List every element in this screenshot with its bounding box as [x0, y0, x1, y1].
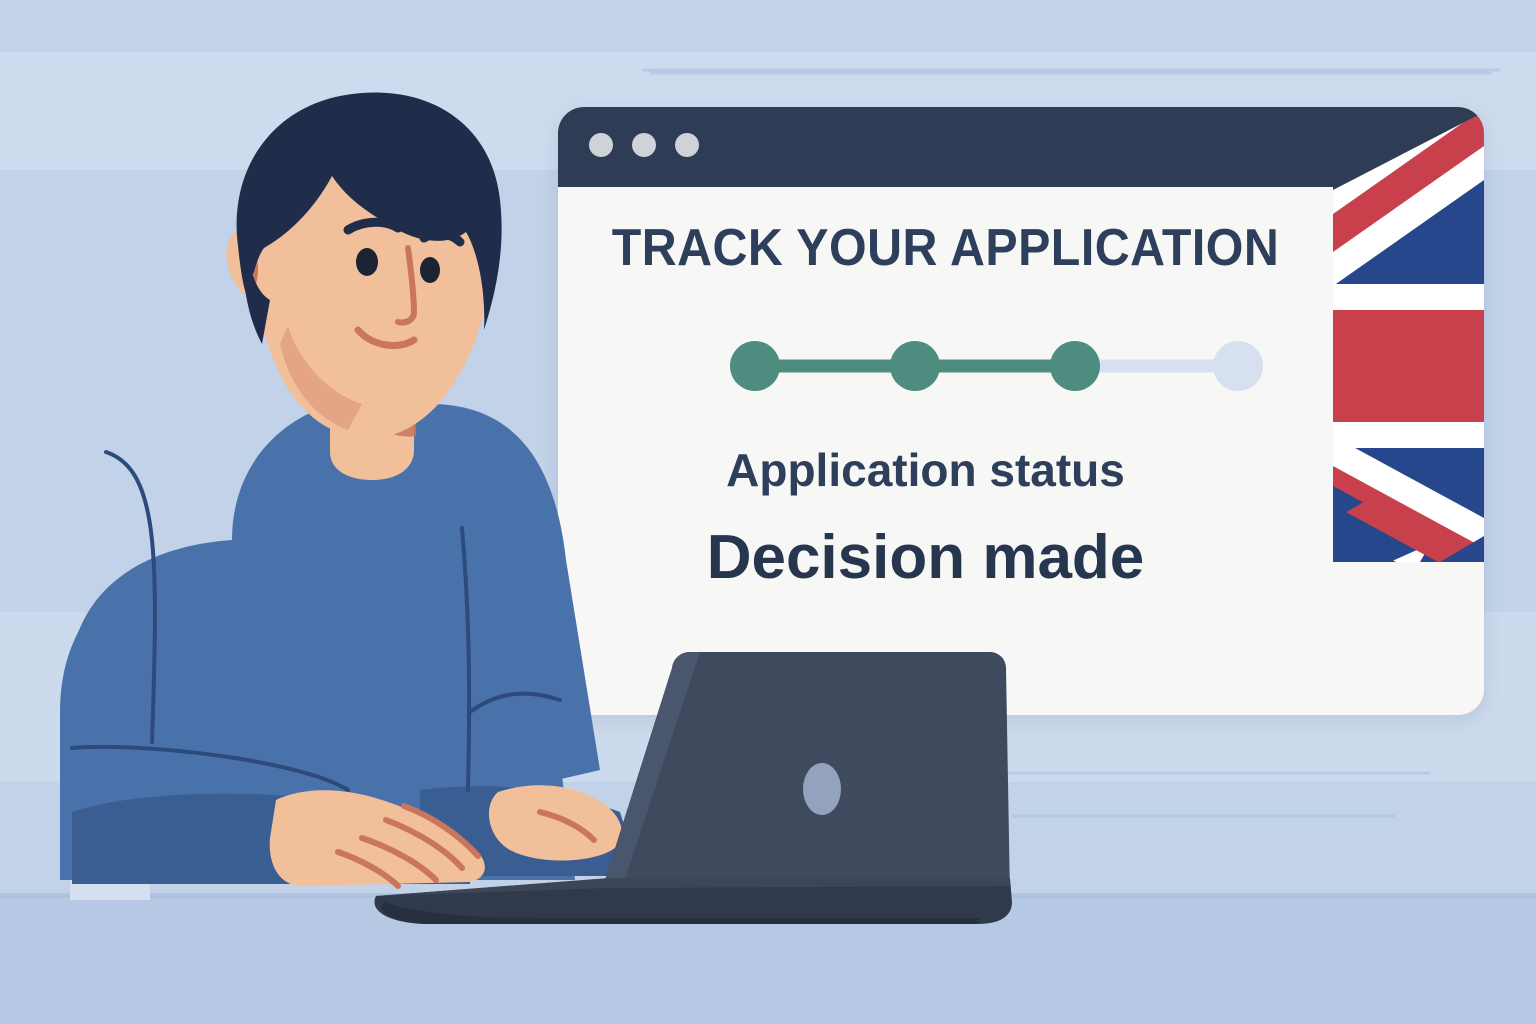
united-kingdom-flag [1333, 104, 1484, 568]
stepper-node-1[interactable] [730, 341, 780, 391]
application-status-label: Application status [558, 447, 1293, 493]
page-title: TRACK YOUR APPLICATION [585, 222, 1306, 274]
stepper-node-3[interactable] [1050, 341, 1100, 391]
browser-window[interactable] [558, 104, 1484, 715]
stepper-node-2[interactable] [890, 341, 940, 391]
eye-right [420, 257, 440, 283]
window-controls[interactable] [589, 133, 699, 157]
illustration-scene: TRACK YOUR APPLICATION Application statu… [0, 0, 1536, 1024]
application-status-value: Decision made [558, 527, 1293, 589]
traffic-light-dot-1[interactable] [589, 133, 613, 157]
laptop-logo [803, 763, 841, 815]
traffic-light-dot-2[interactable] [632, 133, 656, 157]
traffic-light-dot-3[interactable] [675, 133, 699, 157]
scene-artwork [0, 0, 1536, 1024]
stepper-node-4[interactable] [1213, 341, 1263, 391]
eye-left [356, 248, 378, 276]
